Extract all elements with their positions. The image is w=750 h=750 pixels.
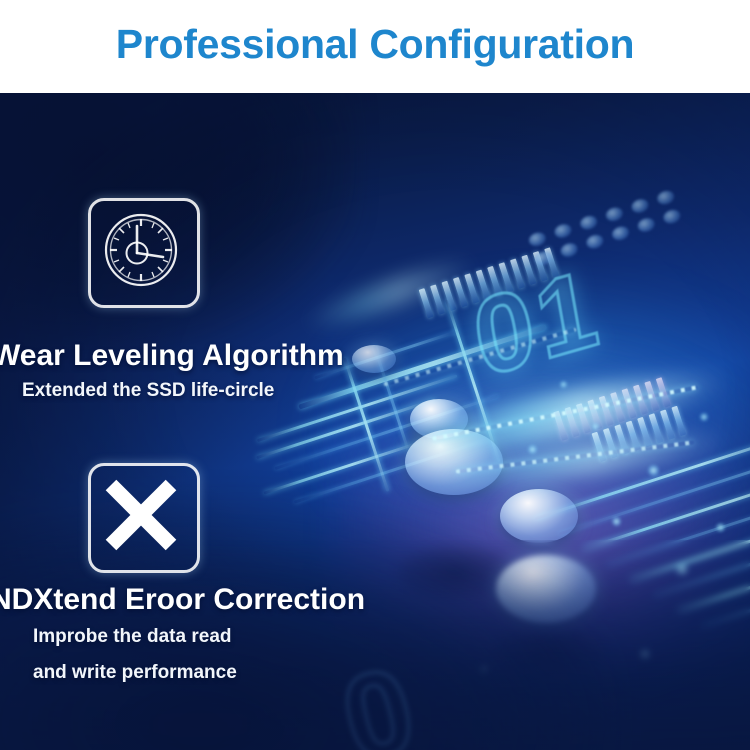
clock-icon: [88, 198, 200, 308]
feature-title-wear-leveling: Wear Leveling Algorithm: [0, 341, 344, 371]
page-title: Professional Configuration: [116, 24, 634, 65]
feature-subtitle-error-correction-1: Improbe the data read: [33, 627, 232, 646]
feature-image-panel: 01 0: [0, 93, 750, 750]
page-header: Professional Configuration: [0, 0, 750, 93]
feature-title-error-correction: NDXtend Eroor Correction: [0, 585, 365, 615]
product-feature-banner: Professional Configuration: [0, 0, 750, 750]
feature-subtitle-wear-leveling: Extended the SSD life-circle: [22, 381, 274, 400]
feature-subtitle-error-correction-2: and write performance: [33, 663, 237, 682]
x-mark-icon: [88, 463, 200, 573]
